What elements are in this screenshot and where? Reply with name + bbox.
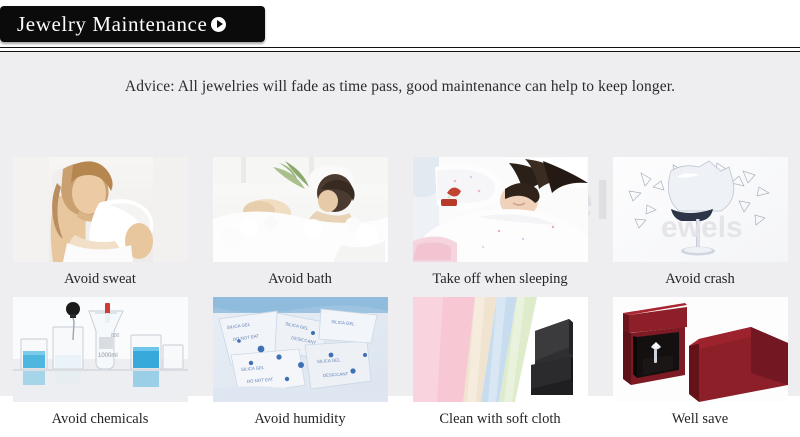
maintenance-panel: Advice: All jewelries will fade as time …	[0, 52, 800, 396]
woman-sleeping-icon	[413, 157, 588, 262]
jewelry-gift-box-icon	[613, 297, 788, 402]
stacked-pastel-cloths-icon	[413, 297, 588, 402]
tip-caption: Clean with soft cloth	[439, 411, 560, 428]
title-bar: Jewelry Maintenance	[0, 6, 265, 42]
svg-text:1000ml: 1000ml	[98, 353, 118, 359]
avoid-humidity-image: SILICA GEL DO NOT EAT SILICA GEL DESICCA…	[213, 297, 388, 402]
tip-card-avoid-bath[interactable]: Avoid bath	[200, 157, 400, 297]
soft-cloth-image	[413, 297, 588, 402]
tip-card-well-save[interactable]: Well save	[600, 297, 800, 437]
woman-wiping-sweat-icon	[13, 157, 188, 262]
tip-card-avoid-crash[interactable]: ewels Avoid crash	[600, 157, 800, 297]
avoid-bath-image	[213, 157, 388, 262]
svg-text:800: 800	[111, 333, 120, 339]
laboratory-beakers-icon: 1000ml 800	[13, 297, 188, 402]
tip-caption: Well save	[672, 411, 728, 428]
tip-card-avoid-sweat[interactable]: Avoid sweat	[0, 157, 200, 297]
sleeping-image	[413, 157, 588, 262]
shattering-glass-icon: ewels	[613, 157, 788, 262]
tips-grid: Avoid sweat	[0, 157, 800, 437]
header: Jewelry Maintenance	[0, 0, 800, 50]
avoid-sweat-image	[13, 157, 188, 262]
tip-card-avoid-humidity[interactable]: SILICA GEL DO NOT EAT SILICA GEL DESICCA…	[200, 297, 400, 437]
tip-caption: Avoid sweat	[64, 271, 136, 288]
play-circle-icon[interactable]	[211, 17, 226, 32]
avoid-crash-image: ewels	[613, 157, 788, 262]
page-title: Jewelry Maintenance	[17, 12, 207, 37]
avoid-chemicals-image: 1000ml 800	[13, 297, 188, 402]
tip-caption: Avoid crash	[665, 271, 734, 288]
tip-card-take-off-when-sleeping[interactable]: Take off when sleeping	[400, 157, 600, 297]
silica-gel-packets-icon: SILICA GEL DO NOT EAT SILICA GEL DESICCA…	[213, 297, 388, 402]
tip-caption: Avoid chemicals	[52, 411, 149, 428]
tip-caption: Avoid humidity	[254, 411, 345, 428]
tip-caption: Take off when sleeping	[432, 271, 567, 288]
bubble-bath-icon	[213, 157, 388, 262]
tip-card-avoid-chemicals[interactable]: 1000ml 800 Avoid chemicals	[0, 297, 200, 437]
tip-caption: Avoid bath	[268, 271, 332, 288]
svg-text:ewels: ewels	[661, 211, 743, 244]
advice-text: Advice: All jewelries will fade as time …	[0, 52, 800, 96]
well-save-image	[613, 297, 788, 402]
tip-card-clean-with-soft-cloth[interactable]: Clean with soft cloth	[400, 297, 600, 437]
